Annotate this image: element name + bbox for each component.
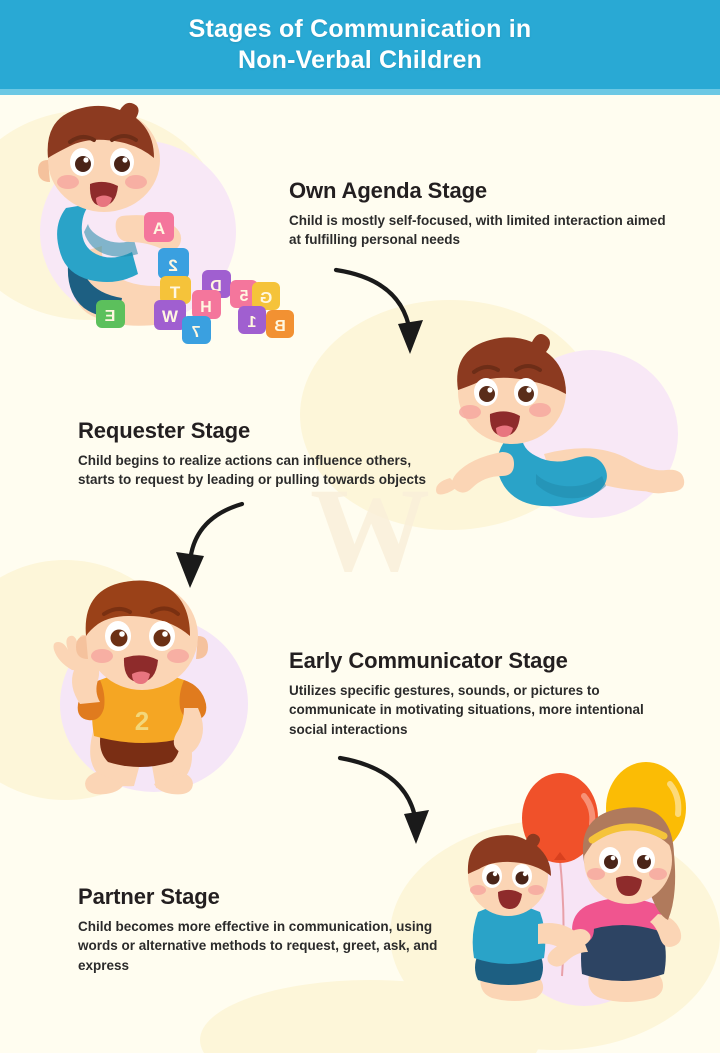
- page-title-line1: Stages of Communication in: [189, 15, 532, 43]
- block-7: 7: [182, 316, 211, 344]
- illustration-boy-sitting-with-alphabet-blocks: A 2 T W E D H 7 5 G 1 B: [26, 104, 306, 344]
- girl-blush-right: [649, 868, 667, 880]
- svg-text:E: E: [104, 308, 115, 325]
- stage-2-heading: Requester Stage: [78, 418, 448, 444]
- arrowhead-1: [398, 320, 423, 354]
- boy-eye-highlight-left: [83, 157, 88, 162]
- svg-text:G: G: [260, 290, 272, 307]
- stage-1-description: Child is mostly self-focused, with limit…: [289, 211, 669, 250]
- baby-eye-highlight-left: [487, 387, 492, 392]
- illustration-two-children-with-balloons: [444, 756, 714, 1016]
- stage-1-text-block: Own Agenda Stage Child is mostly self-fo…: [289, 178, 669, 250]
- block-A: A: [144, 212, 174, 242]
- partner-boy-blush-left: [470, 885, 486, 895]
- page-title: Stages of Communication in Non-Verbal Ch…: [189, 14, 532, 76]
- svg-text:2: 2: [168, 256, 177, 275]
- toddler-eye-highlight-right: [162, 631, 168, 637]
- baby-pupil-left: [479, 386, 495, 402]
- toddler-blush-left: [91, 649, 113, 663]
- stage-1-heading: Own Agenda Stage: [289, 178, 669, 204]
- boy-blush-right: [125, 175, 147, 189]
- block-W: W: [154, 300, 186, 330]
- girl-eye-highlight-left: [611, 856, 616, 861]
- page-title-line2: Non-Verbal Children: [238, 46, 482, 74]
- stage-3-heading: Early Communicator Stage: [289, 648, 669, 674]
- illustration-baby-crawling-pointing: [424, 334, 704, 544]
- header-underline: [0, 89, 720, 95]
- svg-text:1: 1: [247, 314, 256, 331]
- svg-text:A: A: [153, 219, 165, 238]
- boy-pupil-right: [114, 156, 130, 172]
- stage-4-heading: Partner Stage: [78, 884, 448, 910]
- stage-2-text-block: Requester Stage Child begins to realize …: [78, 418, 448, 490]
- baby-blush-left: [459, 405, 481, 419]
- toddler-shirt-number: 2: [135, 706, 149, 736]
- stage-4-text-block: Partner Stage Child becomes more effecti…: [78, 884, 448, 975]
- block-1: 1: [238, 306, 266, 334]
- stage-3-description: Utilizes specific gestures, sounds, or p…: [289, 681, 669, 739]
- svg-text:H: H: [200, 299, 212, 316]
- header-banner: Stages of Communication in Non-Verbal Ch…: [0, 0, 720, 89]
- block-E: E: [96, 300, 125, 328]
- boy-blush-left: [57, 175, 79, 189]
- girl-blush-left: [587, 868, 605, 880]
- block-B: B: [266, 310, 294, 338]
- partner-boy-eye-highlight-left: [493, 872, 497, 876]
- boy-pupil-left: [75, 156, 91, 172]
- svg-text:5: 5: [239, 288, 248, 305]
- illustration-toddler-waving-orange-shirt: 2: [44, 578, 294, 798]
- baby-eye-highlight-right: [526, 387, 531, 392]
- girl-eye-highlight-right: [645, 856, 650, 861]
- boy-ear: [38, 160, 50, 182]
- svg-text:T: T: [169, 283, 180, 302]
- block-2: 2: [158, 248, 189, 279]
- toddler-pupil-left: [111, 630, 128, 647]
- block-T: T: [160, 276, 191, 304]
- block-G: G: [252, 282, 280, 310]
- infographic-root: W Stages of Communication in Non-Verbal …: [0, 0, 720, 1053]
- baby-blush-right: [529, 403, 551, 417]
- toddler-pupil-right: [154, 630, 171, 647]
- boy-eye-highlight-right: [122, 157, 127, 162]
- svg-text:W: W: [161, 307, 178, 326]
- block-H: H: [192, 290, 221, 319]
- baby-pupil-right: [518, 386, 534, 402]
- toddler-blush-right: [167, 649, 189, 663]
- svg-text:7: 7: [191, 324, 200, 341]
- stage-3-text-block: Early Communicator Stage Utilizes specif…: [289, 648, 669, 739]
- toddler-eye-highlight-left: [119, 631, 125, 637]
- stage-4-description: Child becomes more effective in communic…: [78, 917, 448, 975]
- arrow-stage-3-to-4: [332, 748, 442, 848]
- partner-boy-blush-right: [528, 885, 544, 895]
- partner-boy-eye-highlight-right: [523, 872, 527, 876]
- arrowhead-3: [404, 810, 429, 844]
- svg-text:B: B: [274, 318, 286, 335]
- stage-2-description: Child begins to realize actions can infl…: [78, 451, 448, 490]
